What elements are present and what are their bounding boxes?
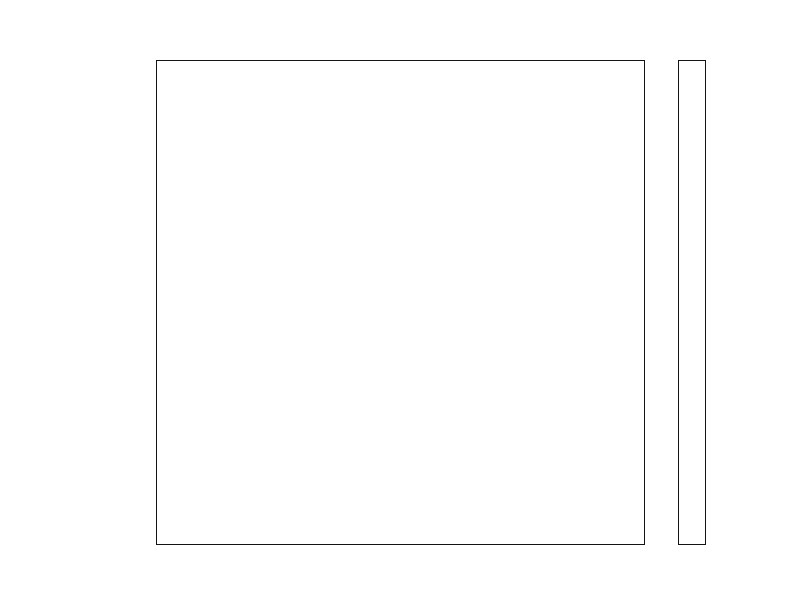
figure-canvas	[0, 0, 800, 600]
colorbar[interactable]	[678, 60, 706, 545]
heatmap-cell-grid	[157, 61, 644, 544]
colorbar-gradient	[679, 61, 705, 544]
heatmap-axes[interactable]	[156, 60, 645, 545]
